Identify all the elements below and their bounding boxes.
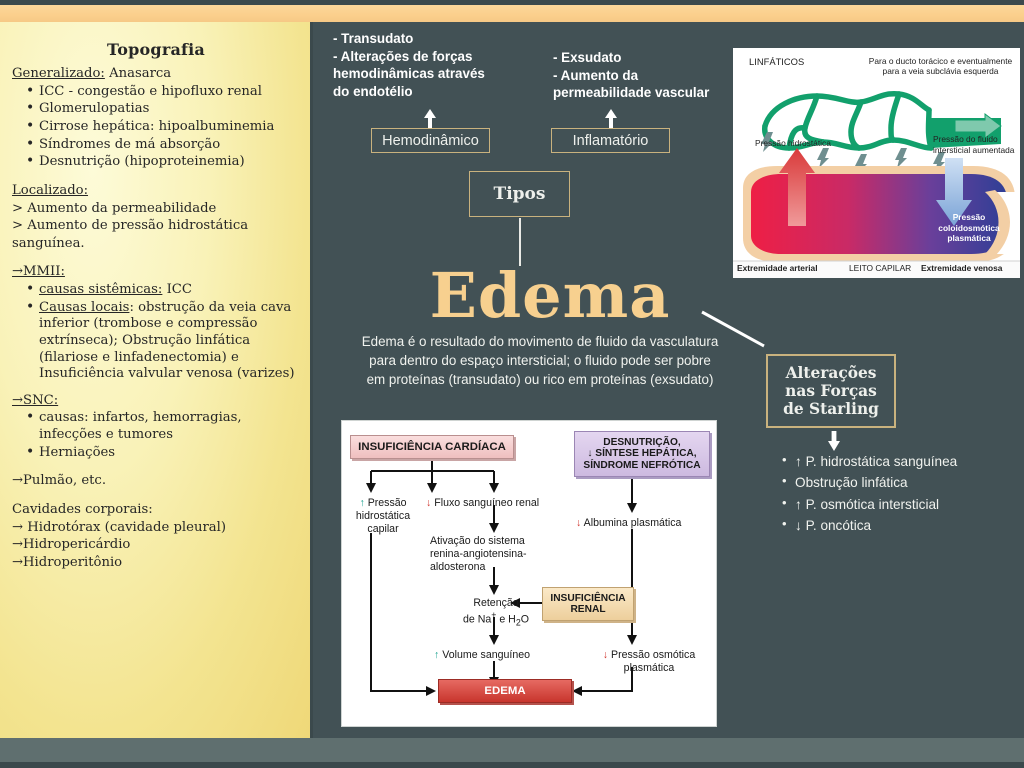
topografia-sidebar: Topografia Generalizado: Anasarca ICC - … bbox=[0, 22, 313, 738]
generalizado-value: Anasarca bbox=[105, 66, 171, 81]
bottom-dark-strip bbox=[0, 762, 1024, 768]
arrow-up-green-icon: ↑ bbox=[359, 497, 364, 509]
mmii-lead-2: Causas locais bbox=[39, 300, 129, 315]
arterial-end-label: Extremidade arterial bbox=[737, 263, 818, 273]
snc-list: causas: infartos, hemorragias, infecções… bbox=[12, 410, 300, 461]
capillary-bed-label: LEITO CAPILAR bbox=[849, 263, 911, 273]
arrow-up-green-icon: ↑ bbox=[434, 649, 439, 661]
arrow-up-icon bbox=[420, 108, 440, 130]
localizado-line-1: > Aumento da permeabilidade bbox=[12, 201, 300, 218]
thoracic-duct-label: Para o ducto torácico e eventualmente pa… bbox=[863, 56, 1018, 77]
lymph-diagram-svg bbox=[733, 48, 1020, 278]
list-item: Glomerulopatias bbox=[26, 101, 300, 118]
list-item: Obstrução linfática bbox=[780, 473, 1020, 492]
arrow-down-red-icon: ↓ bbox=[426, 497, 431, 509]
list-item: Herniações bbox=[26, 445, 300, 462]
edema-result-box[interactable]: EDEMA bbox=[438, 679, 572, 703]
list-item: Causas locais: obstrução da veia cava in… bbox=[26, 300, 300, 383]
localizado-line-3: sanguínea. bbox=[12, 236, 300, 253]
lymphatic-capillary-diagram: LINFÁTICOS Para o ducto torácico e event… bbox=[733, 48, 1020, 278]
venous-end-label: Extremidade venosa bbox=[921, 263, 1002, 273]
blood-volume-node: ↑ Volume sanguíneo bbox=[434, 649, 578, 662]
hemodinamico-box[interactable]: Hemodinâmico bbox=[371, 128, 490, 153]
cavidades-item-2: →Hidropericárdio bbox=[12, 537, 300, 554]
top-accent-band bbox=[0, 5, 1024, 22]
mmii-lead-1: causas sistêmicas: bbox=[39, 282, 162, 297]
generalizado-line: Generalizado: Anasarca bbox=[12, 66, 300, 83]
localizado-line-2: > Aumento de pressão hidrostática bbox=[12, 218, 300, 235]
list-item: causas sistêmicas: ICC bbox=[26, 282, 300, 299]
pulmao-label: →Pulmão, etc. bbox=[12, 473, 300, 490]
sidebar-heading: Topografia bbox=[12, 40, 300, 60]
mmii-label: →MMII: bbox=[12, 264, 300, 281]
list-item: Síndromes de má absorção bbox=[26, 137, 300, 154]
renal-insufficiency-box[interactable]: INSUFICIÊNCIA RENAL bbox=[542, 587, 634, 621]
arrow-down-icon bbox=[826, 430, 842, 452]
mmii-rest-1: ICC bbox=[162, 282, 192, 297]
hydrostatic-pressure-node: ↑ Pressão hidrostática capilar bbox=[348, 497, 418, 536]
node-text: Volume sanguíneo bbox=[442, 649, 530, 661]
inflamatorio-description: - Exsudato - Aumento da permeabilidade v… bbox=[553, 49, 733, 102]
localizado-label: Localizado: bbox=[12, 183, 300, 200]
node-text: Pressão hidrostática capilar bbox=[356, 497, 410, 535]
node-text: Albumina plasmática bbox=[584, 517, 682, 529]
bottom-accent-band bbox=[0, 738, 1024, 762]
slide-canvas: Topografia Generalizado: Anasarca ICC - … bbox=[0, 0, 1024, 768]
cavidades-label: Cavidades corporais: bbox=[12, 502, 300, 519]
lymph-title-label: LINFÁTICOS bbox=[749, 56, 804, 67]
list-item: ↓ P. oncótica bbox=[780, 516, 1020, 535]
edema-description: Edema é o resultado do movimento de flui… bbox=[330, 333, 750, 390]
cardiac-insufficiency-box[interactable]: INSUFICIÊNCIA CARDÍACA bbox=[350, 435, 514, 459]
renal-flow-node: ↓ Fluxo sanguíneo renal bbox=[426, 497, 576, 510]
malnutrition-box[interactable]: DESNUTRIÇÃO, ↓ SÍNTESE HEPÁTICA, SÍNDROM… bbox=[574, 431, 710, 477]
hydrostatic-pressure-label: Pressão hidrostática bbox=[755, 138, 831, 148]
arrow-up-icon bbox=[601, 108, 621, 130]
hemodinamico-description: - Transudato - Alterações de forças hemo… bbox=[333, 30, 548, 101]
node-text: Fluxo sanguíneo renal bbox=[434, 497, 539, 509]
arrow-down-red-icon: ↓ bbox=[603, 649, 608, 661]
inflamatorio-box[interactable]: Inflamatório bbox=[551, 128, 670, 153]
sodium-retention-node: Retençãode Na+ e H2O bbox=[448, 597, 544, 628]
cavidades-item-3: →Hidroperitônio bbox=[12, 555, 300, 572]
list-item: ↑ P. osmótica intersticial bbox=[780, 495, 1020, 514]
colloid-osmotic-label: Pressão coloidosmótica plasmática bbox=[929, 212, 1009, 244]
starling-forces-box[interactable]: Alterações nas Forças de Starling bbox=[766, 354, 896, 428]
list-item: Desnutrição (hipoproteinemia) bbox=[26, 154, 300, 171]
node-text: Pressão osmótica plasmática bbox=[611, 649, 695, 674]
list-item: ICC - congestão e hipofluxo renal bbox=[26, 84, 300, 101]
list-item: ↑ P. hidrostática sanguínea bbox=[780, 452, 1020, 471]
generalizado-label: Generalizado: bbox=[12, 66, 105, 81]
list-item: causas: infartos, hemorragias, infecções… bbox=[26, 410, 300, 443]
edema-pathophysiology-flowchart: INSUFICIÊNCIA CARDÍACA DESNUTRIÇÃO, ↓ SÍ… bbox=[341, 420, 717, 727]
interstitial-pressure-label: Pressão do fluido intersticial aumentada bbox=[933, 134, 1019, 155]
cavidades-item-1: → Hidrotórax (cavidade pleural) bbox=[12, 520, 300, 537]
starling-connector-line bbox=[700, 310, 768, 348]
mmii-list: causas sistêmicas: ICC Causas locais: ob… bbox=[12, 282, 300, 383]
raas-activation-node: Ativação do sistema renina-angiotensina-… bbox=[430, 535, 564, 574]
plasma-osmotic-pressure-node: ↓ Pressão osmótica plasmática bbox=[586, 649, 712, 675]
plasma-albumin-node: ↓ Albumina plasmática bbox=[576, 517, 716, 530]
tipos-box[interactable]: Tipos bbox=[469, 171, 570, 217]
snc-label: →SNC: bbox=[12, 393, 300, 410]
list-item: Cirrose hepática: hipoalbuminemia bbox=[26, 119, 300, 136]
arrow-down-red-icon: ↓ bbox=[576, 517, 581, 529]
generalizado-list: ICC - congestão e hipofluxo renal Glomer… bbox=[12, 84, 300, 171]
starling-items-list: ↑ P. hidrostática sanguínea Obstrução li… bbox=[780, 452, 1020, 537]
